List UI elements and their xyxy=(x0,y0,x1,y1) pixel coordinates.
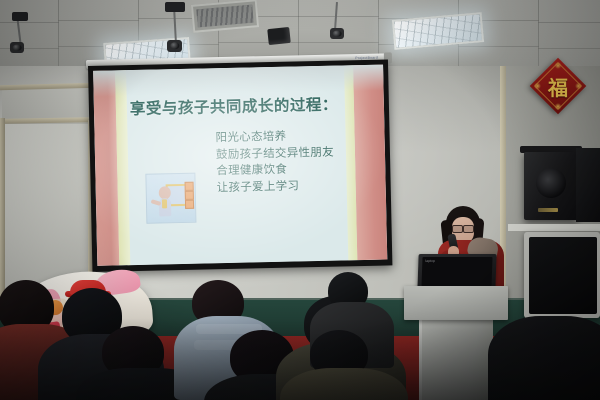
track-light-mount-center xyxy=(165,2,185,12)
fu-decoration: 福 xyxy=(530,58,587,115)
laptop: laptop xyxy=(417,254,496,290)
ceiling-air-vent xyxy=(191,0,259,33)
projected-slide: 享受与孩子共同成长的过程： 阳光心态培养 鼓励孩子结交异性朋友 合理健康饮食 让… xyxy=(93,65,387,266)
spot-light-left xyxy=(10,42,24,53)
light-grill xyxy=(394,14,482,47)
lecture-room-photo: 福 ProjectBoard 享受与孩子共同成长的过程： 阳光心态培养 鼓励孩子… xyxy=(0,0,600,400)
podium-column xyxy=(419,318,493,400)
podium-edge-highlight xyxy=(419,318,422,400)
loudspeaker-secondary xyxy=(576,148,600,222)
glasses-icon xyxy=(452,225,474,231)
slide-projection-glow xyxy=(93,65,387,266)
display-monitor xyxy=(524,232,600,318)
av-shelf xyxy=(508,224,600,231)
audience-shoulders xyxy=(488,316,600,400)
track-light-far-right xyxy=(267,27,291,45)
spot-light-center xyxy=(167,40,182,52)
loudspeaker xyxy=(524,152,578,220)
spot-light-right xyxy=(330,28,344,39)
fu-character: 福 xyxy=(538,66,578,106)
track-light-mount-left xyxy=(12,12,28,21)
projector-screen: 享受与孩子共同成长的过程： 阳光心态培养 鼓励孩子结交异性朋友 合理健康饮食 让… xyxy=(88,59,392,271)
podium-desktop xyxy=(404,286,508,320)
laptop-brand-label: laptop xyxy=(425,259,435,263)
